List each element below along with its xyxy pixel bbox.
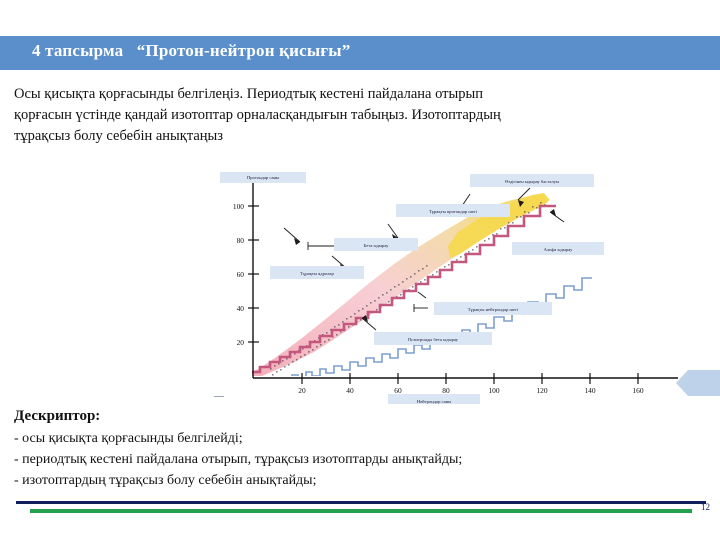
intro-line-3: тұрақсыз болу себебін анықтаңыз	[14, 126, 686, 147]
x-axis-tick-labels: 20 40 60 80 100 120 140 160	[298, 386, 644, 395]
y-axis-tick-labels: 20 40 60 80 100	[233, 202, 244, 347]
callout-beta-decay: Бета ыдырау	[334, 238, 418, 251]
callout-spontaneous-fission-text: Өздігінен ыдырау басталуы	[505, 179, 559, 184]
x-tick-20: 20	[298, 386, 306, 395]
y-tick-100: 100	[233, 202, 244, 211]
x-tick-120: 120	[536, 386, 547, 395]
callout-stable-proton-limit: Тұрақты протондар шегі	[396, 204, 510, 217]
descriptor-item-3: - изотоптардың тұрақсыз болу себебін аны…	[14, 470, 634, 491]
x-tick-60: 60	[394, 386, 402, 395]
page-number: 12	[701, 502, 710, 512]
callout-stable-nuclei: Тұрақты ядролар	[270, 266, 364, 279]
descriptor-block: Дескриптор: - осы қисықта қорғасынды бел…	[14, 405, 634, 491]
footer-navy-rule	[16, 501, 706, 504]
nuclide-band-group	[252, 193, 592, 384]
descriptor-item-1: - осы қисықта қорғасынды белгілейді;	[14, 428, 634, 449]
callout-alpha-decay: Альфа ыдырау	[512, 242, 604, 255]
callout-protons-axis-label: Протондар саны	[220, 172, 306, 183]
chart-svg: 20 40 60 80 100 20 40 60 80 100 120 140 …	[212, 172, 682, 404]
intro-line-1: Осы қисықта қорғасынды белгілеңіз. Перио…	[14, 84, 686, 105]
slide-title-band: 4 тапсырма “Протон-нейтрон қисығы”	[0, 36, 720, 70]
callout-stable-neutron-limit-text: Тұрақты нейтрондар шегі	[468, 307, 519, 312]
callout-beta-decay-text: Бета ыдырау	[364, 243, 390, 248]
callout-stable-proton-limit-text: Тұрақты протондар шегі	[429, 209, 478, 214]
x-tick-40: 40	[346, 386, 354, 395]
x-tick-140: 140	[584, 386, 595, 395]
x-tick-100: 100	[488, 386, 499, 395]
y-tick-40: 40	[237, 304, 245, 313]
stray-mark	[214, 396, 224, 397]
y-tick-80: 80	[237, 236, 245, 245]
next-slide-chevron-icon[interactable]	[676, 368, 720, 398]
callout-spontaneous-fission: Өздігінен ыдырау басталуы	[470, 174, 594, 187]
y-tick-60: 60	[237, 270, 245, 279]
descriptor-heading: Дескриптор:	[14, 405, 634, 428]
x-tick-160: 160	[632, 386, 643, 395]
footer-green-rule	[30, 509, 692, 513]
callout-stable-nuclei-text: Тұрақты ядролар	[300, 271, 334, 276]
page-title: 4 тапсырма “Протон-нейтрон қисығы”	[32, 41, 350, 61]
callout-neutrons-axis-label: Нейтрондар саны	[388, 394, 480, 404]
callout-protons-axis-text: Протондар саны	[247, 175, 279, 180]
callout-stable-neutron-limit: Тұрақты нейтрондар шегі	[434, 302, 552, 315]
intro-line-2: қорғасын үстінде қандай изотоптар орнала…	[14, 105, 686, 126]
proton-neutron-curve-chart: 20 40 60 80 100 20 40 60 80 100 120 140 …	[212, 172, 682, 404]
descriptor-item-2: - периодтық кестені пайдалана отырып, тұ…	[14, 449, 634, 470]
intro-paragraph: Осы қисықта қорғасынды белгілеңіз. Перио…	[14, 84, 686, 147]
callout-positron-beta-decay: Позитронды бета ыдырау	[374, 332, 492, 345]
callout-positron-beta-decay-text: Позитронды бета ыдырау	[408, 337, 459, 342]
x-tick-80: 80	[442, 386, 450, 395]
callout-neutrons-axis-text: Нейтрондар саны	[417, 399, 451, 404]
callout-alpha-decay-text: Альфа ыдырау	[544, 247, 573, 252]
y-tick-20: 20	[237, 338, 245, 347]
lower-neutron-drip-edge	[258, 278, 592, 384]
